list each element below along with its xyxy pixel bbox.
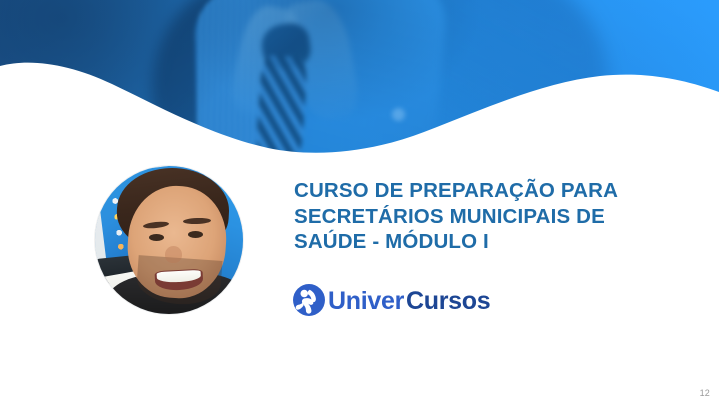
univercursos-person-circle-icon xyxy=(292,283,326,317)
circular-presenter-photo xyxy=(95,166,243,314)
slide-title-line-1: CURSO DE PREPARAÇÃO PARA xyxy=(294,178,654,204)
slide-title-line-3: SAÚDE - MÓDULO I xyxy=(294,229,654,255)
logo-text-univer: Univer xyxy=(328,289,404,314)
slide-title: CURSO DE PREPARAÇÃO PARA SECRETÁRIOS MUN… xyxy=(294,178,654,255)
header-photo-banner xyxy=(0,0,719,160)
white-wave-divider xyxy=(0,0,719,160)
photo-person-eye-right xyxy=(188,231,203,238)
photo-person-eye-left xyxy=(149,234,164,241)
presenter-photo-inner xyxy=(95,166,243,314)
logo-text-cursos: Cursos xyxy=(406,289,490,314)
presentation-slide: CURSO DE PREPARAÇÃO PARA SECRETÁRIOS MUN… xyxy=(0,0,719,404)
univercursos-logo: Univer Cursos xyxy=(292,283,490,317)
photo-person-teeth xyxy=(157,270,202,283)
slide-title-line-2: SECRETÁRIOS MUNICIPAIS DE xyxy=(294,204,654,230)
page-number: 12 xyxy=(700,388,710,398)
photo-person-nose xyxy=(165,246,182,263)
